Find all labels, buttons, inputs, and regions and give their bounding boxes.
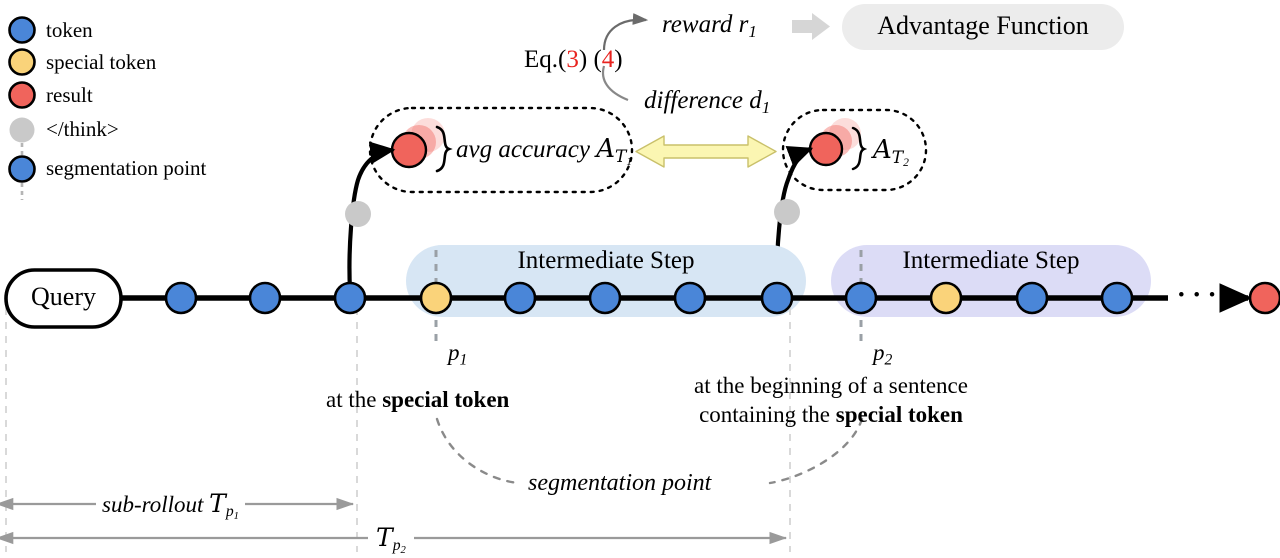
- segmentation-point-caption: segmentation point: [528, 471, 711, 495]
- p2-label: p2: [873, 341, 892, 364]
- timeline-node-token: [250, 283, 280, 313]
- eq-number-3: 3: [566, 46, 579, 73]
- difference-label: difference d1: [644, 88, 770, 113]
- total-sub2: 2: [401, 545, 406, 556]
- accuracy-symbol-left: A: [596, 134, 615, 164]
- accuracy-sub-right: T: [892, 148, 903, 168]
- timeline-node-special-token: [421, 283, 451, 313]
- timeline-node-token: [166, 283, 196, 313]
- p2-text: p: [873, 340, 885, 365]
- timeline-node-token: [590, 283, 620, 313]
- intermediate-step-1-label: Intermediate Step: [406, 248, 806, 273]
- timeline-node-segmentation-point: [335, 283, 365, 313]
- diagram-canvas: token special token result </think> segm…: [0, 0, 1280, 558]
- note-right-line1: at the beginning of a sentence: [694, 374, 968, 397]
- note-special-token: at the special token: [326, 388, 509, 411]
- accuracy-sub2-left: 1: [626, 155, 632, 168]
- timeline-node-token: [1102, 283, 1132, 313]
- subrollout-sub: p: [226, 503, 234, 520]
- query-label: Query: [6, 284, 121, 310]
- blue-circle-icon: [10, 18, 35, 43]
- advantage-function-label: Advantage Function: [842, 13, 1124, 39]
- timeline-node-token: [675, 283, 705, 313]
- note-sentence-beginning: at the beginning of a sentence containin…: [694, 374, 968, 426]
- p1-text: p: [448, 340, 460, 365]
- think-marker-2: [774, 199, 800, 225]
- subrollout-measure-label: sub-rollout Tp1: [96, 491, 245, 517]
- avg-accuracy-label-right: AT2: [873, 137, 909, 163]
- timeline-node-token: [505, 283, 535, 313]
- total-rollout-measure-label: Tp2: [368, 525, 414, 551]
- p1-subscript: 1: [460, 351, 468, 368]
- blue-circle-dashed-icon: [10, 157, 35, 182]
- legend-icons: [10, 18, 35, 201]
- avg-accuracy-text: avg accuracy: [456, 136, 596, 163]
- difference-subscript: 1: [762, 98, 771, 117]
- accuracy-sub2-right: 2: [903, 156, 909, 169]
- note-right-line2-bold: special token: [836, 402, 963, 427]
- difference-text: difference d: [644, 87, 762, 114]
- think-marker-1: [345, 201, 371, 227]
- equation-reference: Eq.(3) (4): [524, 47, 623, 72]
- timeline-node-token: [1017, 283, 1047, 313]
- reward-text: reward r: [662, 11, 748, 38]
- accuracy-sub-left: T: [615, 147, 626, 167]
- timeline-node-result: [1250, 283, 1280, 313]
- reward-label: reward r1: [662, 12, 757, 37]
- avg-accuracy-label-left: avg accuracy AT1: [456, 136, 632, 162]
- eq-number-4: 4: [602, 46, 615, 73]
- note-left-plain: at the: [326, 387, 382, 412]
- note-left-bold: special token: [382, 387, 509, 412]
- timeline-node-segmentation-point: [846, 283, 876, 313]
- total-sub: p: [393, 537, 401, 554]
- red-circle-icon: [10, 83, 35, 108]
- intermediate-step-2-label: Intermediate Step: [831, 248, 1151, 273]
- gray-block-arrow: [792, 13, 830, 40]
- legend-label-special: special token: [46, 52, 156, 73]
- subrollout-sub2: 1: [234, 511, 239, 522]
- legend-label-result: result: [46, 85, 93, 106]
- legend-label-segpoint: segmentation point: [46, 158, 206, 179]
- yellow-circle-icon: [10, 50, 35, 75]
- timeline-node-segmentation-point: [762, 283, 792, 313]
- timeline-node-special-token: [931, 283, 961, 313]
- legend-label-token: token: [46, 20, 93, 41]
- note-right-line2-plain: containing the: [699, 402, 836, 427]
- gray-circle-icon: [10, 118, 35, 143]
- note-right-line2: containing the special token: [694, 403, 968, 426]
- ellipsis-label: • • •: [1178, 286, 1217, 305]
- p2-subscript: 2: [885, 351, 893, 368]
- accuracy-symbol-right: A: [873, 135, 892, 165]
- total-symbol: T: [376, 523, 393, 552]
- legend-label-think: </think>: [46, 119, 119, 140]
- eq-close-2: ): [614, 46, 622, 73]
- equation-prefix: Eq.: [524, 46, 558, 73]
- reward-subscript: 1: [748, 22, 757, 41]
- eq-close-1: ): [579, 46, 587, 73]
- difference-double-arrow: [636, 136, 776, 167]
- eq-open-2: (: [593, 46, 601, 73]
- subrollout-symbol: T: [209, 489, 226, 518]
- subrollout-text: sub-rollout: [102, 492, 209, 517]
- p1-label: p1: [448, 341, 467, 364]
